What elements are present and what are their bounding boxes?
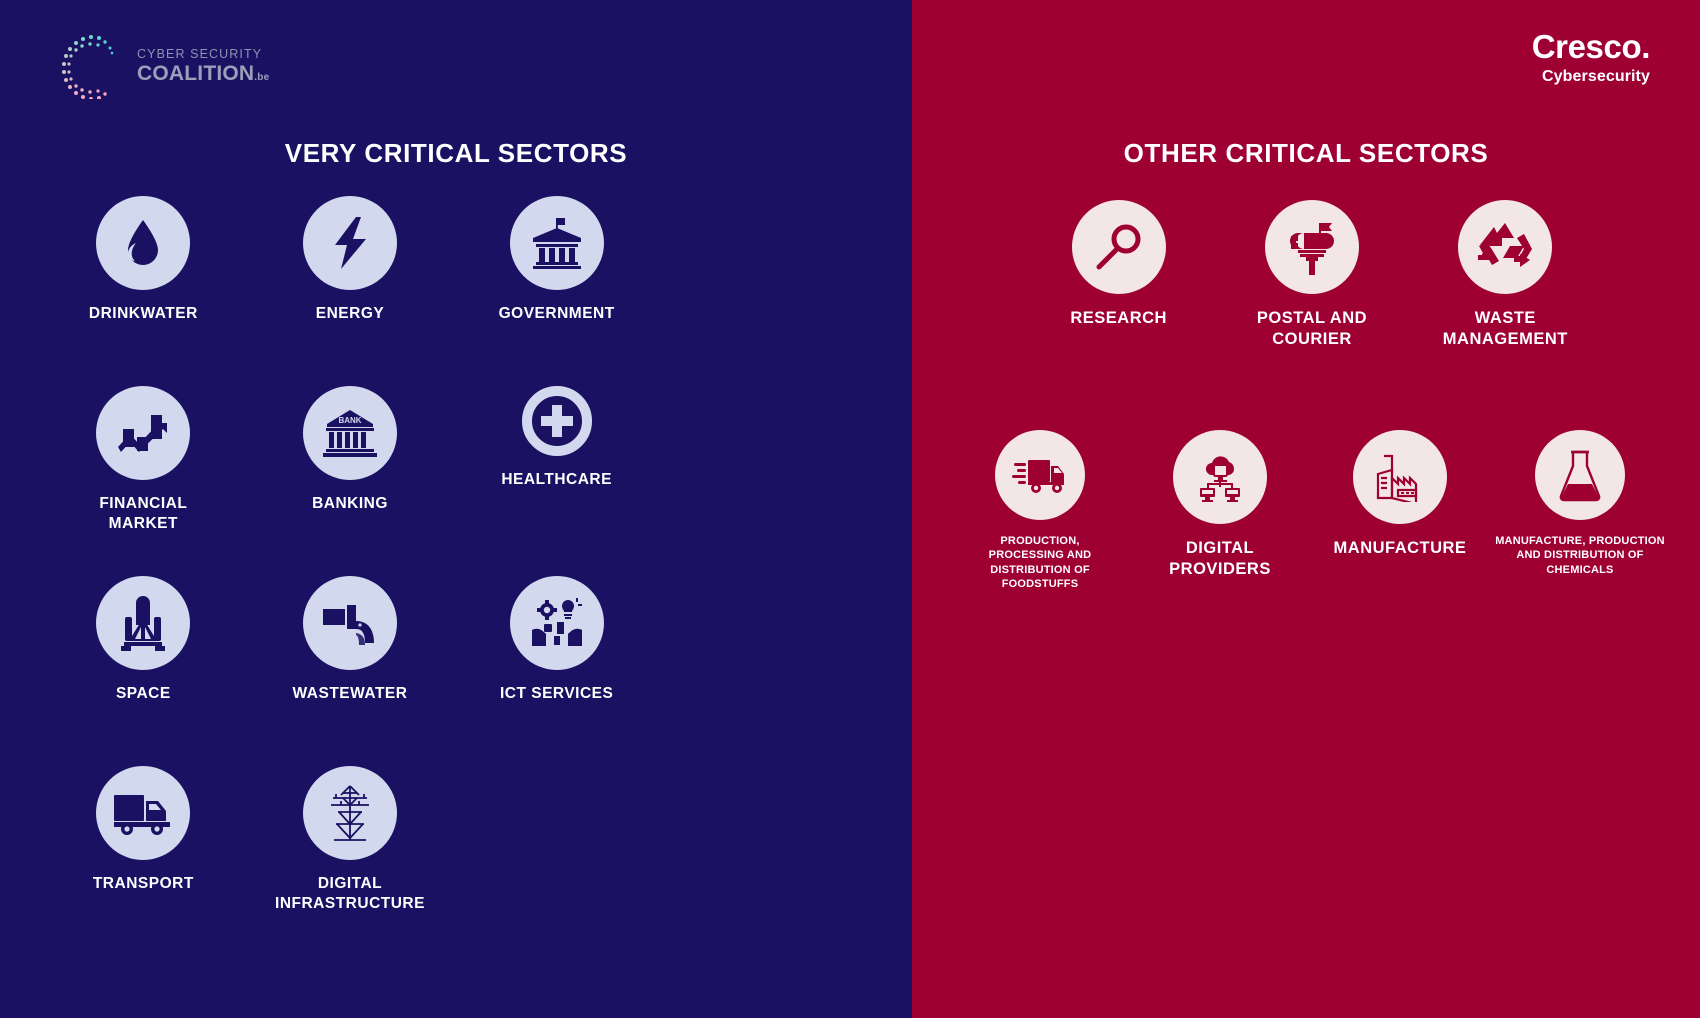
other-critical-sectors-row1: RESEARCH POSTAL AND COURI xyxy=(1022,200,1602,350)
sector-label: HEALTHCARE xyxy=(501,470,612,490)
sector-label: PRODUCTION, PROCESSING AND DISTRIBUTION … xyxy=(989,534,1092,591)
sector-item-waste-management[interactable]: WASTE MANAGEMENT xyxy=(1409,200,1602,350)
sector-label: ICT SERVICES xyxy=(500,684,613,704)
medical-cross-icon xyxy=(522,386,592,456)
hands-gear-tech-icon xyxy=(510,576,604,670)
right-panel-title: OTHER CRITICAL SECTORS xyxy=(912,138,1700,169)
coalition-logo-line1: CYBER SECURITY xyxy=(137,48,269,61)
very-critical-sectors-panel: CYBER SECURITY COALITION.be VERY CRITICA… xyxy=(0,0,912,1018)
bar-chart-growth-icon xyxy=(96,386,190,480)
sector-item-healthcare[interactable]: HEALTHCARE xyxy=(453,386,660,576)
sector-label: MANUFACTURE xyxy=(1334,538,1467,559)
svg-text:BANK: BANK xyxy=(338,416,361,425)
mailbox-icon xyxy=(1265,200,1359,294)
sector-item-wastewater[interactable]: WASTEWATER xyxy=(247,576,454,766)
sector-label: BANKING xyxy=(312,494,388,514)
sector-item-digital-infrastructure[interactable]: DIGITAL INFRASTRUCTURE xyxy=(247,766,454,956)
sector-item-financial-market[interactable]: FINANCIAL MARKET xyxy=(40,386,247,576)
sector-label: FINANCIAL MARKET xyxy=(99,494,187,534)
water-drop-icon xyxy=(96,196,190,290)
lightning-bolt-icon xyxy=(303,196,397,290)
sector-label: MANUFACTURE, PRODUCTION AND DISTRIBUTION… xyxy=(1495,534,1665,577)
sector-item-drinkwater[interactable]: DRINKWATER xyxy=(40,196,247,386)
sector-item-government[interactable]: GOVERNMENT xyxy=(453,196,660,386)
sector-label: RESEARCH xyxy=(1070,308,1167,329)
sector-item-energy[interactable]: ENERGY xyxy=(247,196,454,386)
delivery-truck-fast-icon xyxy=(995,430,1085,520)
sector-item-manufacture[interactable]: MANUFACTURE xyxy=(1310,430,1490,591)
sector-label: DIGITAL PROVIDERS xyxy=(1169,538,1271,580)
sector-label: POSTAL AND COURIER xyxy=(1257,308,1367,350)
cresco-name: Cresco. xyxy=(1532,30,1650,63)
sector-item-research[interactable]: RESEARCH xyxy=(1022,200,1215,350)
space-shuttle-icon xyxy=(96,576,190,670)
left-panel-title: VERY CRITICAL SECTORS xyxy=(0,138,912,169)
cloud-network-icon xyxy=(1173,430,1267,524)
sector-label: GOVERNMENT xyxy=(499,304,615,324)
other-critical-sectors-panel: Cresco. Cybersecurity OTHER CRITICAL SEC… xyxy=(912,0,1700,1018)
sector-label: TRANSPORT xyxy=(93,874,194,894)
cresco-tagline: Cybersecurity xyxy=(1532,69,1650,85)
other-critical-sectors-row2: PRODUCTION, PROCESSING AND DISTRIBUTION … xyxy=(950,430,1670,591)
coalition-logo-line2: COALITION xyxy=(137,62,254,85)
power-transmission-tower-icon xyxy=(303,766,397,860)
bank-building-icon: BANK xyxy=(303,386,397,480)
coalition-logo-tld: .be xyxy=(254,72,269,83)
truck-icon xyxy=(96,766,190,860)
sector-item-postal-and-courier[interactable]: POSTAL AND COURIER xyxy=(1215,200,1408,350)
sector-label: WASTE MANAGEMENT xyxy=(1443,308,1568,350)
magnifying-glass-icon xyxy=(1072,200,1166,294)
recycle-icon xyxy=(1458,200,1552,294)
sector-label: DIGITAL INFRASTRUCTURE xyxy=(275,874,425,914)
sector-label: SPACE xyxy=(116,684,171,704)
sector-item-chemicals[interactable]: MANUFACTURE, PRODUCTION AND DISTRIBUTION… xyxy=(1490,430,1670,591)
dotted-c-logo-icon xyxy=(55,31,123,99)
sector-label: ENERGY xyxy=(316,304,384,324)
very-critical-sectors-grid: DRINKWATER ENERGY xyxy=(40,196,660,956)
sector-item-transport[interactable]: TRANSPORT xyxy=(40,766,247,956)
sector-item-banking[interactable]: BANK BANKING xyxy=(247,386,454,576)
sector-item-foodstuffs[interactable]: PRODUCTION, PROCESSING AND DISTRIBUTION … xyxy=(950,430,1130,591)
sector-label: WASTEWATER xyxy=(293,684,408,704)
sector-label: DRINKWATER xyxy=(89,304,198,324)
chemical-flask-icon xyxy=(1535,430,1625,520)
sector-item-space[interactable]: SPACE xyxy=(40,576,247,766)
cyber-security-coalition-logo: CYBER SECURITY COALITION.be xyxy=(55,31,269,99)
cresco-logo: Cresco. Cybersecurity xyxy=(1532,30,1650,85)
sector-item-ict-services[interactable]: ICT SERVICES xyxy=(453,576,660,766)
government-building-icon xyxy=(510,196,604,290)
sector-item-digital-providers[interactable]: DIGITAL PROVIDERS xyxy=(1130,430,1310,591)
pipe-water-flow-icon xyxy=(303,576,397,670)
factory-icon xyxy=(1353,430,1447,524)
